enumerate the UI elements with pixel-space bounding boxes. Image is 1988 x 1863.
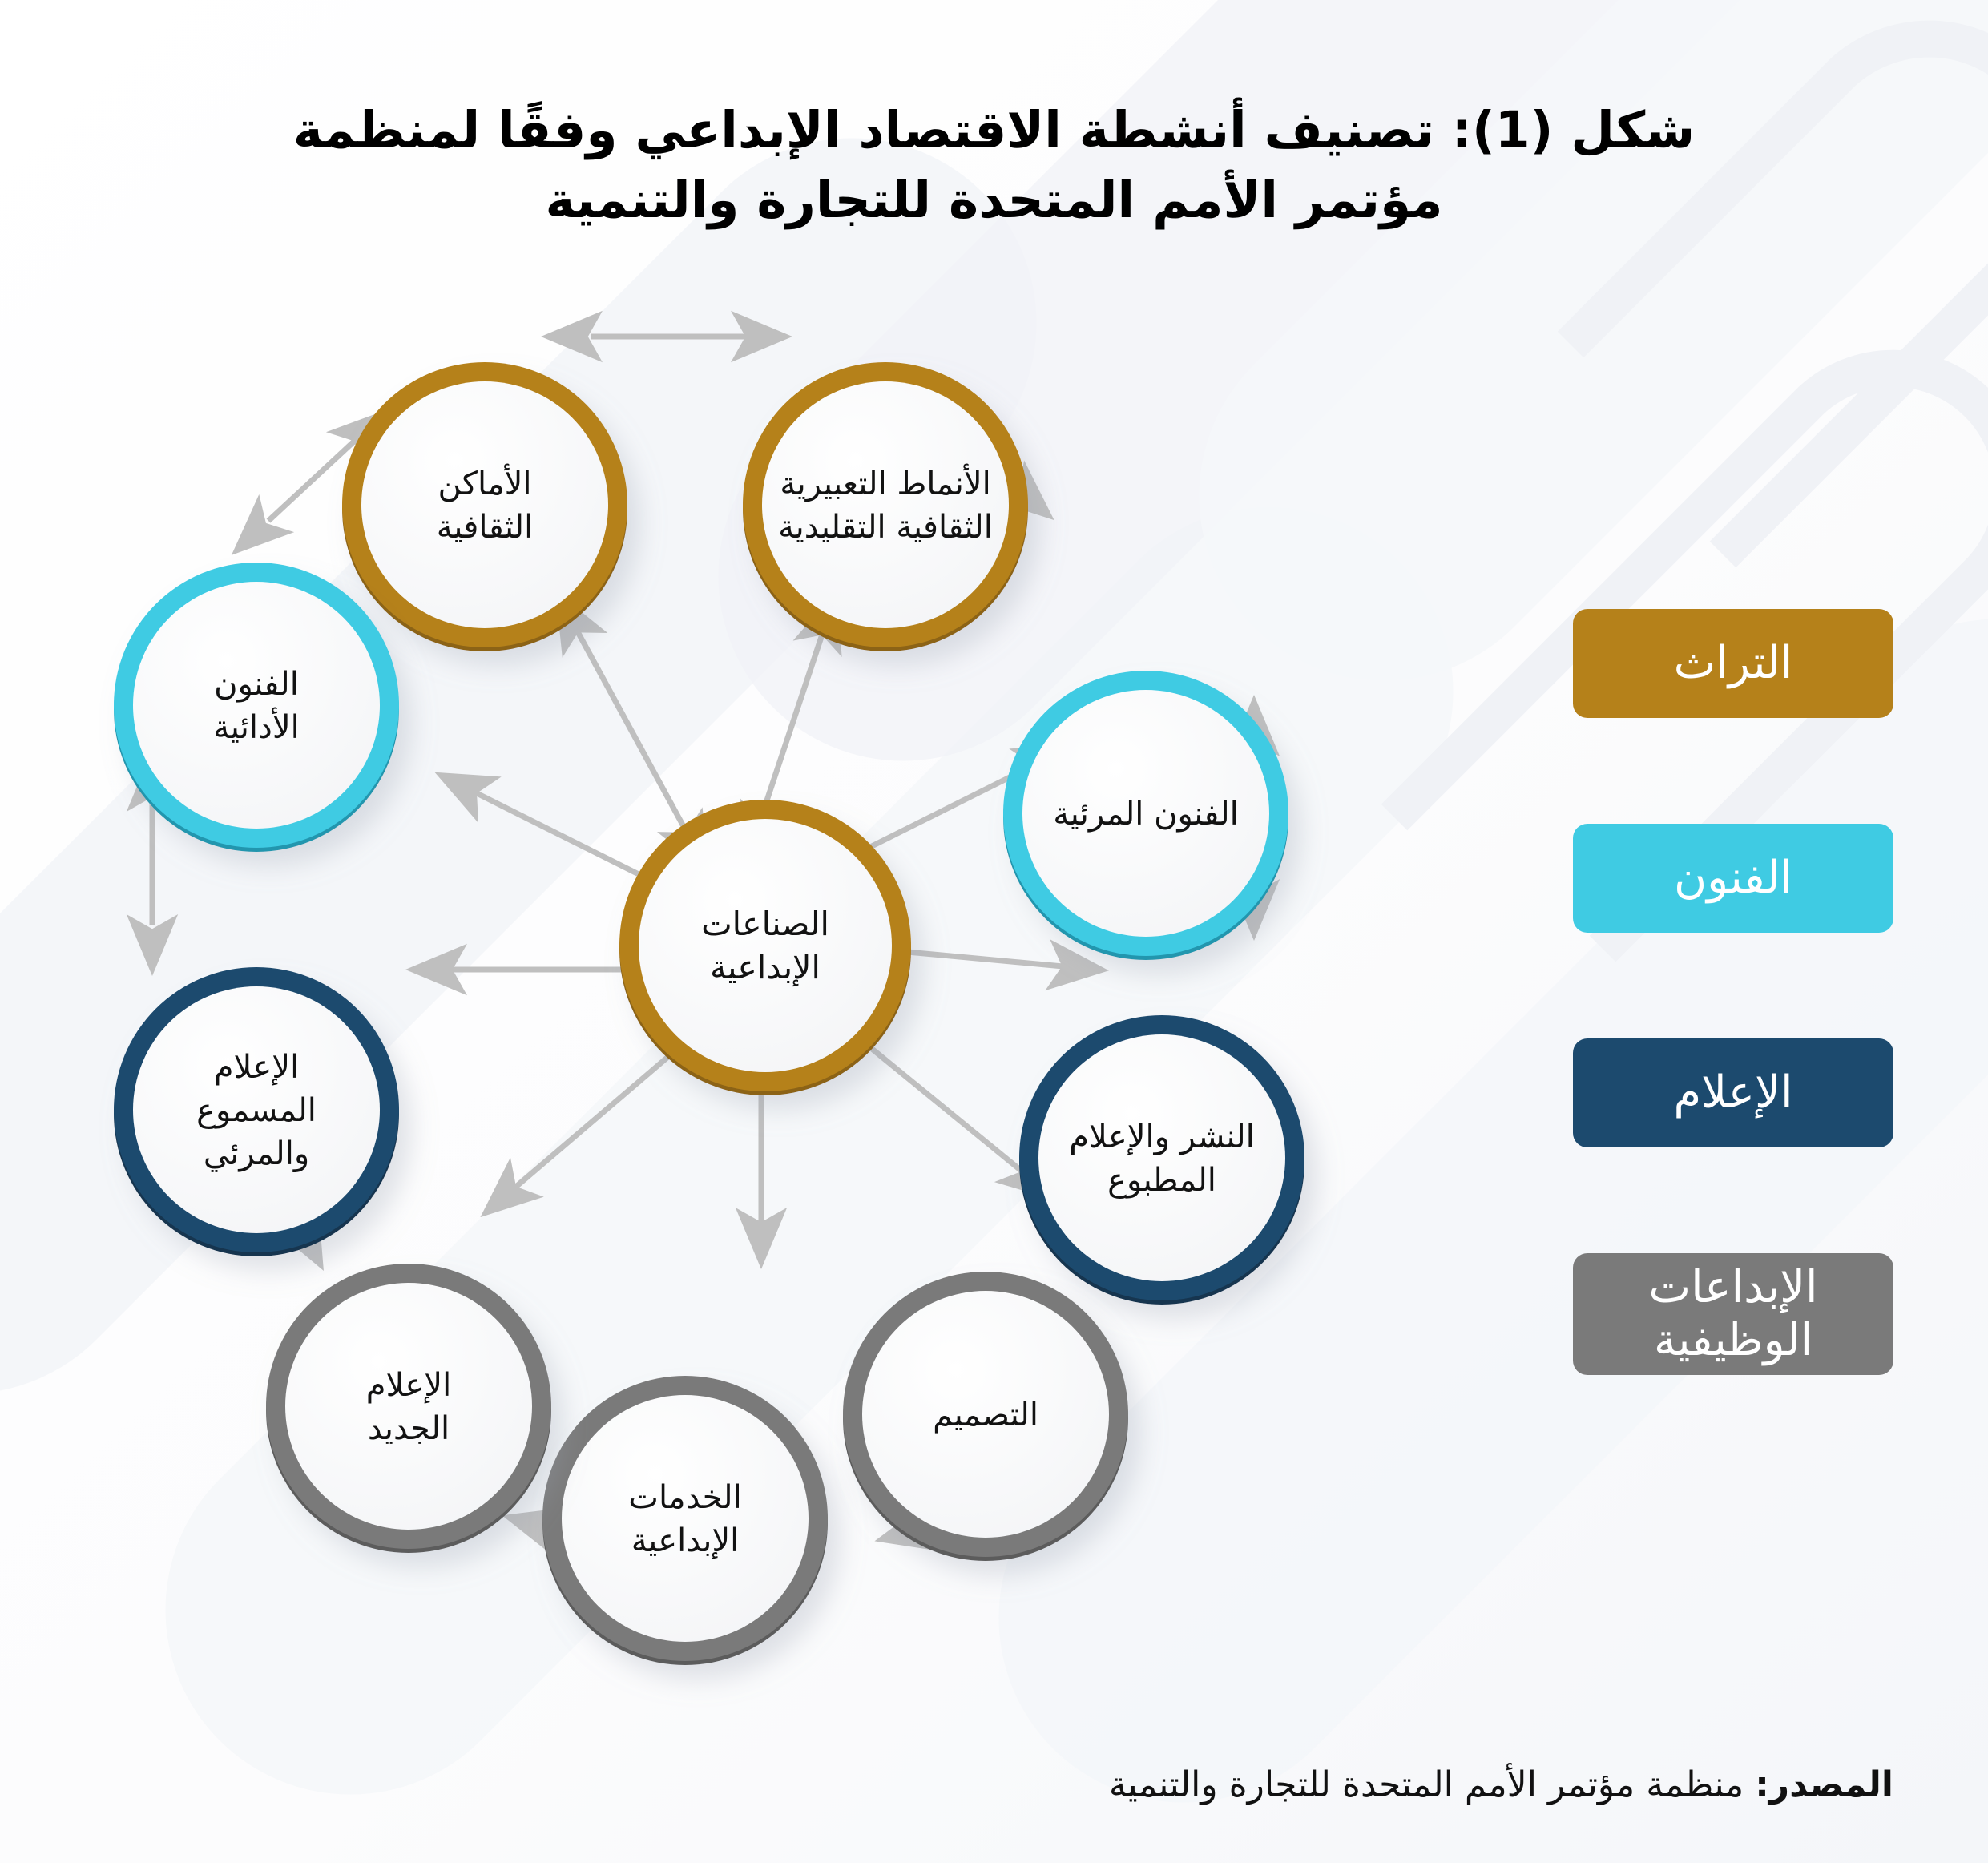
node-group: الأماكنالثقافيةالأنماط التعبيريةالثقافية… <box>114 362 1304 1665</box>
node-face <box>762 381 1009 628</box>
node-performing-arts[interactable]: الفنونالأدائية <box>114 563 399 852</box>
legend-label: الإبداعات الوظيفية <box>1579 1261 1887 1367</box>
node-face <box>133 582 380 829</box>
legend-functional[interactable]: الإبداعات الوظيفية <box>1573 1253 1893 1375</box>
source-label: المصدر: <box>1755 1764 1893 1805</box>
node-design[interactable]: التصميم <box>843 1272 1128 1561</box>
edge-hub-cultural-places <box>561 601 685 829</box>
node-visual-arts[interactable]: الفنون المرئية <box>1003 671 1288 960</box>
node-creative-industries[interactable]: الصناعاتالإبداعية <box>619 800 911 1095</box>
edge-hub-performing-arts <box>445 777 653 881</box>
node-label: التصميم <box>933 1397 1038 1434</box>
node-label: الفنون المرئية <box>1053 796 1239 833</box>
title-line-2: مؤتمر الأمم المتحدة للتجارة والتنمية <box>240 166 1748 236</box>
legend-media[interactable]: الإعلام <box>1573 1038 1893 1147</box>
node-face <box>639 819 892 1072</box>
node-publishing-print-media[interactable]: النشر والإعلامالمطبوع <box>1019 1015 1304 1305</box>
legend-label: الإعلام <box>1674 1067 1793 1119</box>
legend-arts[interactable]: الفنون <box>1573 824 1893 933</box>
node-new-media[interactable]: الإعلامالجديد <box>266 1264 551 1553</box>
legend-heritage[interactable]: التراث <box>1573 609 1893 718</box>
classification-diagram: الأماكنالثقافيةالأنماط التعبيريةالثقافية… <box>0 264 1603 1715</box>
legend: التراثالفنونالإعلامالإبداعات الوظيفية <box>1573 609 1893 1375</box>
node-cultural-places[interactable]: الأماكنالثقافية <box>342 362 627 651</box>
node-audio-visual-media[interactable]: الإعلامالمسموعوالمرئي <box>114 967 399 1256</box>
node-traditional-expressions[interactable]: الأنماط التعبيريةالثقافية التقليدية <box>743 362 1028 651</box>
node-face <box>562 1395 809 1642</box>
node-label: الإعلامالمسموعوالمرئي <box>196 1049 317 1172</box>
node-creative-services[interactable]: الخدماتالإبداعية <box>542 1376 828 1665</box>
node-face <box>1038 1034 1285 1281</box>
figure-title: شكل (1): تصنيف أنشطة الاقتصاد الإبداعي و… <box>0 96 1988 236</box>
edge-hub-new-media <box>489 1046 681 1210</box>
node-face <box>361 381 608 628</box>
node-face <box>285 1283 532 1530</box>
source-value: منظمة مؤتمر الأمم المتحدة للتجارة والتنم… <box>1109 1764 1744 1805</box>
legend-label: التراث <box>1674 637 1793 690</box>
source-note: المصدر: منظمة مؤتمر الأمم المتحدة للتجار… <box>1109 1764 1893 1805</box>
title-line-1: شكل (1): تصنيف أنشطة الاقتصاد الإبداعي و… <box>240 96 1748 166</box>
legend-label: الفنون <box>1674 852 1792 905</box>
edge-hub-publishing <box>881 950 1098 970</box>
